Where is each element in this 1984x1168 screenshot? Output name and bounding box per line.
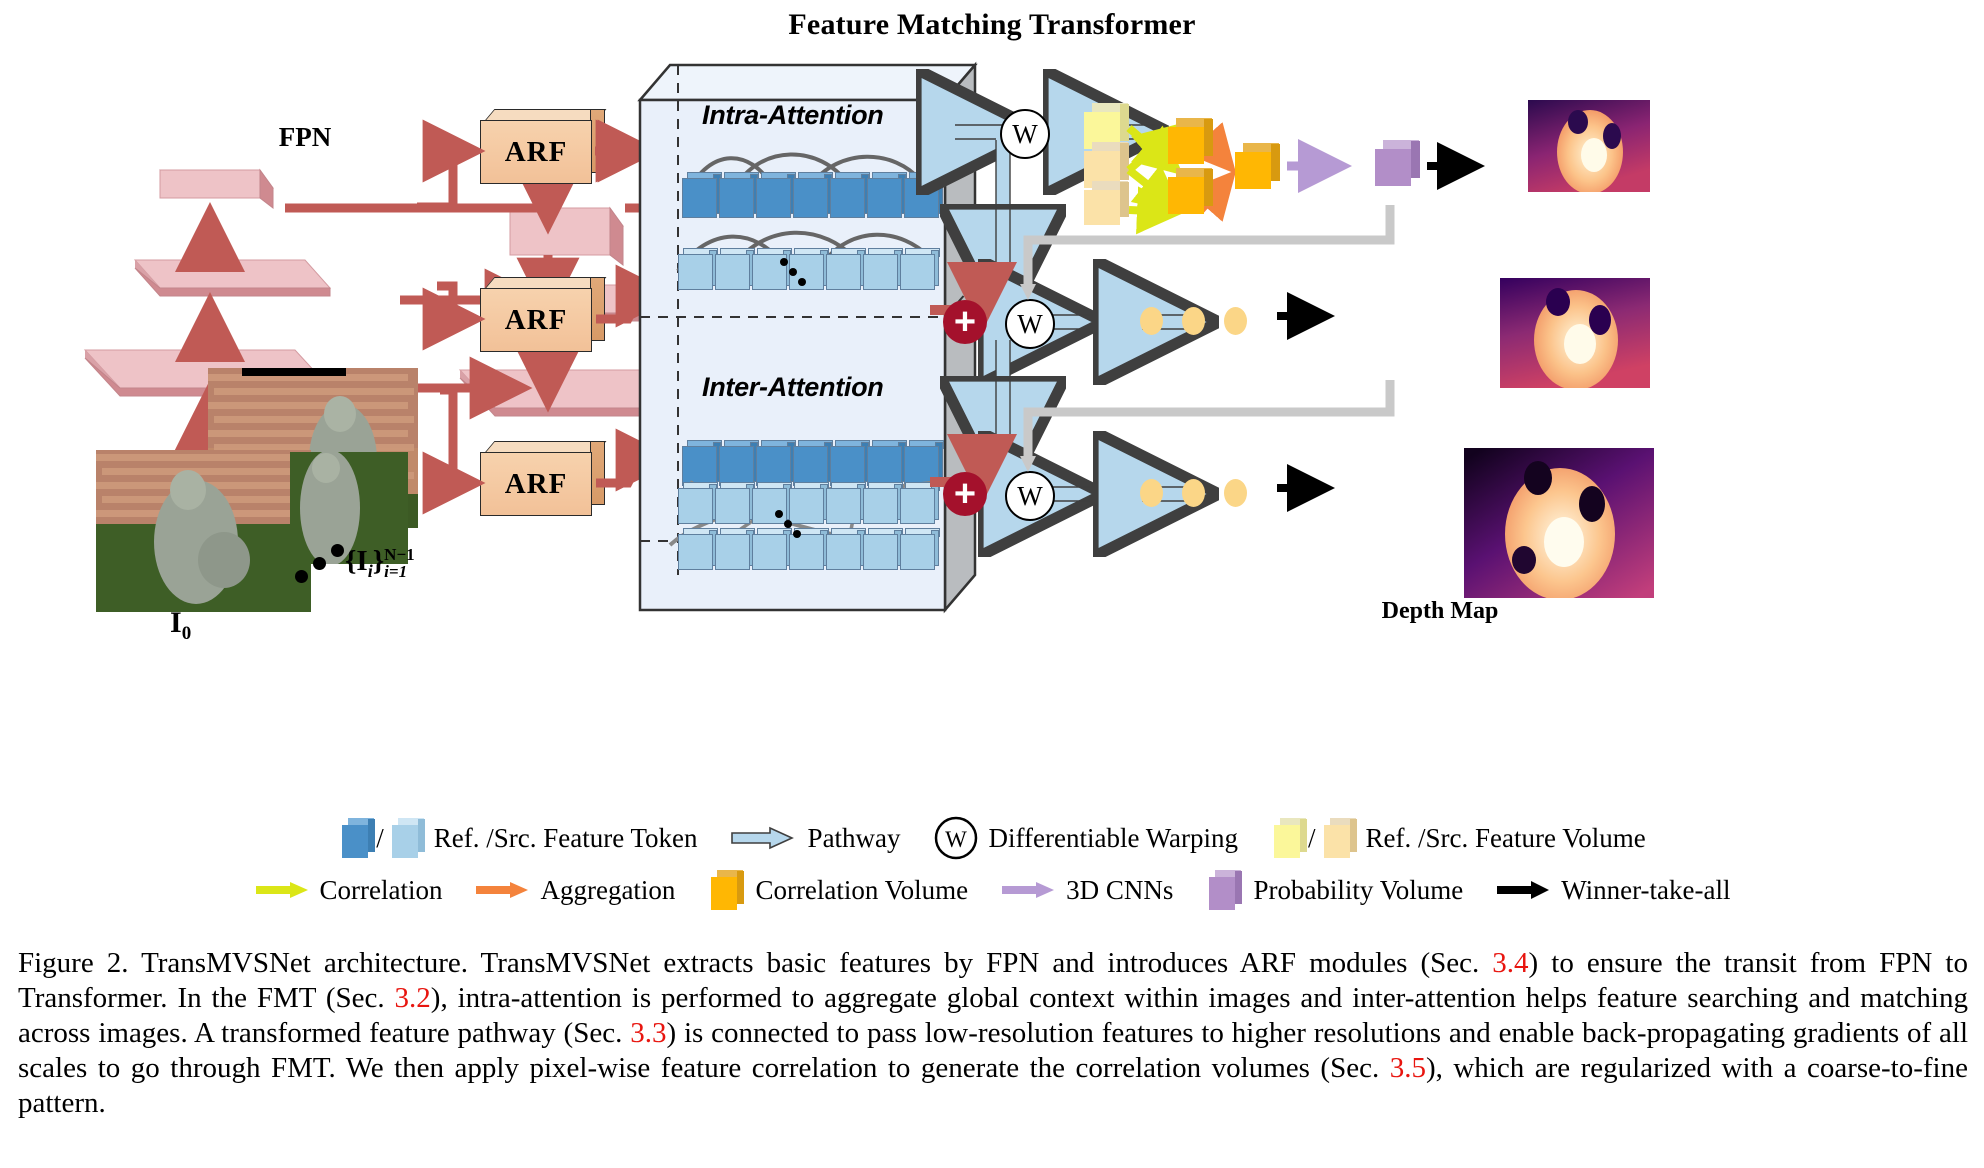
pathway-arrow-icon	[730, 825, 796, 851]
cnn-arrow-icon	[1000, 878, 1056, 902]
warping-circle-level3: W	[1000, 109, 1050, 159]
input-ref-letter: I	[170, 606, 182, 639]
legend-item-correlation-volume: Correlation Volume	[707, 870, 968, 910]
ellipsis-dot	[313, 557, 326, 570]
src-feature-token	[863, 248, 896, 288]
legend-row-1: / Ref. /Src. Feature Token Pathway W Dif…	[0, 812, 1984, 864]
src-feature-token	[678, 482, 711, 522]
ref-feature-token	[830, 172, 863, 216]
legend-item-aggregation: Aggregation	[474, 875, 675, 906]
src-feature-token	[678, 248, 711, 288]
fpn-title: FPN	[215, 122, 395, 153]
src-feature-token	[715, 528, 748, 568]
correlation-arrow-icon	[254, 878, 310, 902]
winner-take-all-arrow-icon	[1495, 878, 1551, 902]
ref-feature-token	[867, 172, 900, 216]
warping-circle-icon: W	[933, 815, 979, 861]
src-feature-token	[863, 528, 896, 568]
ref-volume-swatch	[1274, 818, 1300, 858]
depth-map-level1	[1464, 448, 1654, 598]
correlation-volume-merged	[1235, 143, 1271, 189]
legend-label: Aggregation	[540, 875, 675, 906]
legend-label: 3D CNNs	[1066, 875, 1173, 906]
depth-map-level3	[1528, 100, 1650, 192]
ellipsis-dot	[784, 520, 792, 528]
reference-image-0	[96, 450, 311, 612]
ellipsis-dot	[775, 510, 783, 518]
legend-label: Correlation Volume	[755, 875, 968, 906]
input-src-open: {I	[345, 545, 368, 577]
ellipsis-dot	[798, 278, 806, 286]
ref-feature-token	[682, 440, 715, 484]
caption-text: Figure 2. TransMVSNet architecture. Tran…	[18, 947, 1492, 979]
src-feature-token	[863, 482, 896, 522]
winner-take-all-arrow-top	[1425, 150, 1505, 190]
legend-label: Ref. /Src. Feature Volume	[1366, 823, 1646, 854]
ref-feature-token	[793, 440, 826, 484]
inter-attention-label: Inter-Attention	[702, 372, 883, 403]
correlation-volume-swatch	[711, 870, 737, 910]
legend: / Ref. /Src. Feature Token Pathway W Dif…	[0, 812, 1984, 916]
ref-feature-token	[719, 440, 752, 484]
input-ref-label: I0	[170, 606, 191, 645]
correlation-volume	[1168, 118, 1204, 164]
section-reference[interactable]: 3.5	[1390, 1052, 1426, 1084]
src-feature-token	[826, 482, 859, 522]
section-reference[interactable]: 3.2	[395, 982, 431, 1014]
src-volume-swatch	[1324, 818, 1350, 858]
input-src-superscript: N−1	[384, 546, 414, 563]
src-feature-token	[715, 248, 748, 288]
ref-feature-token	[756, 172, 789, 216]
ref-token-swatch	[342, 818, 368, 858]
depth-map-level2	[1500, 278, 1650, 388]
section-reference[interactable]: 3.4	[1492, 947, 1528, 979]
legend-item-correlation: Correlation	[254, 875, 443, 906]
fusion-plus-level1: +	[943, 472, 987, 516]
aggregation-arrow-icon	[474, 878, 530, 902]
legend-label: Winner-take-all	[1561, 875, 1730, 906]
fusion-plus-level2: +	[943, 300, 987, 344]
src-feature-token	[752, 248, 785, 288]
winner-take-all-arrow-mid	[1275, 300, 1355, 340]
ellipsis-dot	[331, 544, 344, 557]
legend-label: Probability Volume	[1253, 875, 1463, 906]
src-feature-token	[900, 482, 933, 522]
cnn-arrow-top	[1285, 150, 1365, 190]
src-feature-token	[715, 482, 748, 522]
figure-caption: Figure 2. TransMVSNet architecture. Tran…	[18, 946, 1968, 1121]
input-src-close: }	[373, 545, 384, 577]
input-src-subscript: i=1	[384, 563, 414, 580]
ref-feature-token	[904, 172, 937, 216]
src-feature-token	[826, 248, 859, 288]
winner-take-all-arrow-bottom	[1275, 472, 1355, 512]
ellipsis-dot	[295, 570, 308, 583]
ref-feature-token	[719, 172, 752, 216]
ellipsis-dot	[789, 268, 797, 276]
legend-label: Differentiable Warping	[989, 823, 1239, 854]
src-feature-token	[789, 482, 822, 522]
legend-item-winner-take-all: Winner-take-all	[1495, 875, 1730, 906]
ellipsis-dot	[780, 258, 788, 266]
probability-volume	[1375, 140, 1411, 186]
src-feature-token	[826, 528, 859, 568]
src-feature-token	[900, 248, 933, 288]
ref-feature-token	[682, 172, 715, 216]
input-src-label: {Ii} N−1 i=1	[345, 545, 415, 582]
depth-map-title: Depth Map	[1290, 598, 1590, 625]
input-ref-index: 0	[182, 623, 192, 644]
warping-symbol: W	[1012, 119, 1037, 150]
section-reference[interactable]: 3.3	[630, 1017, 666, 1049]
ref-feature-token	[830, 440, 863, 484]
src-feature-token	[678, 528, 711, 568]
legend-item-warping: W Differentiable Warping	[933, 815, 1239, 861]
legend-item-3d-cnns: 3D CNNs	[1000, 875, 1173, 906]
probability-volume-swatch	[1209, 870, 1235, 910]
legend-label: Correlation	[320, 875, 443, 906]
legend-item-feature-volume: / Ref. /Src. Feature Volume	[1270, 818, 1646, 858]
ref-feature-token	[793, 172, 826, 216]
src-feature-token	[900, 528, 933, 568]
legend-label: Pathway	[808, 823, 901, 854]
svg-text:W: W	[945, 827, 967, 852]
src-token-swatch	[392, 818, 418, 858]
legend-item-feature-token: / Ref. /Src. Feature Token	[338, 818, 697, 858]
ellipsis-dot	[793, 530, 801, 538]
legend-label: Ref. /Src. Feature Token	[434, 823, 698, 854]
fmt-title: Feature Matching Transformer	[620, 8, 1364, 42]
src-feature-token	[752, 528, 785, 568]
ref-feature-token	[756, 440, 789, 484]
legend-row-2: Correlation Aggregation Correlation Volu…	[0, 864, 1984, 916]
legend-item-probability-volume: Probability Volume	[1205, 870, 1463, 910]
ref-feature-token	[867, 440, 900, 484]
correlation-volume	[1168, 168, 1204, 214]
legend-item-pathway: Pathway	[730, 823, 901, 854]
intra-attention-label: Intra-Attention	[702, 100, 883, 131]
